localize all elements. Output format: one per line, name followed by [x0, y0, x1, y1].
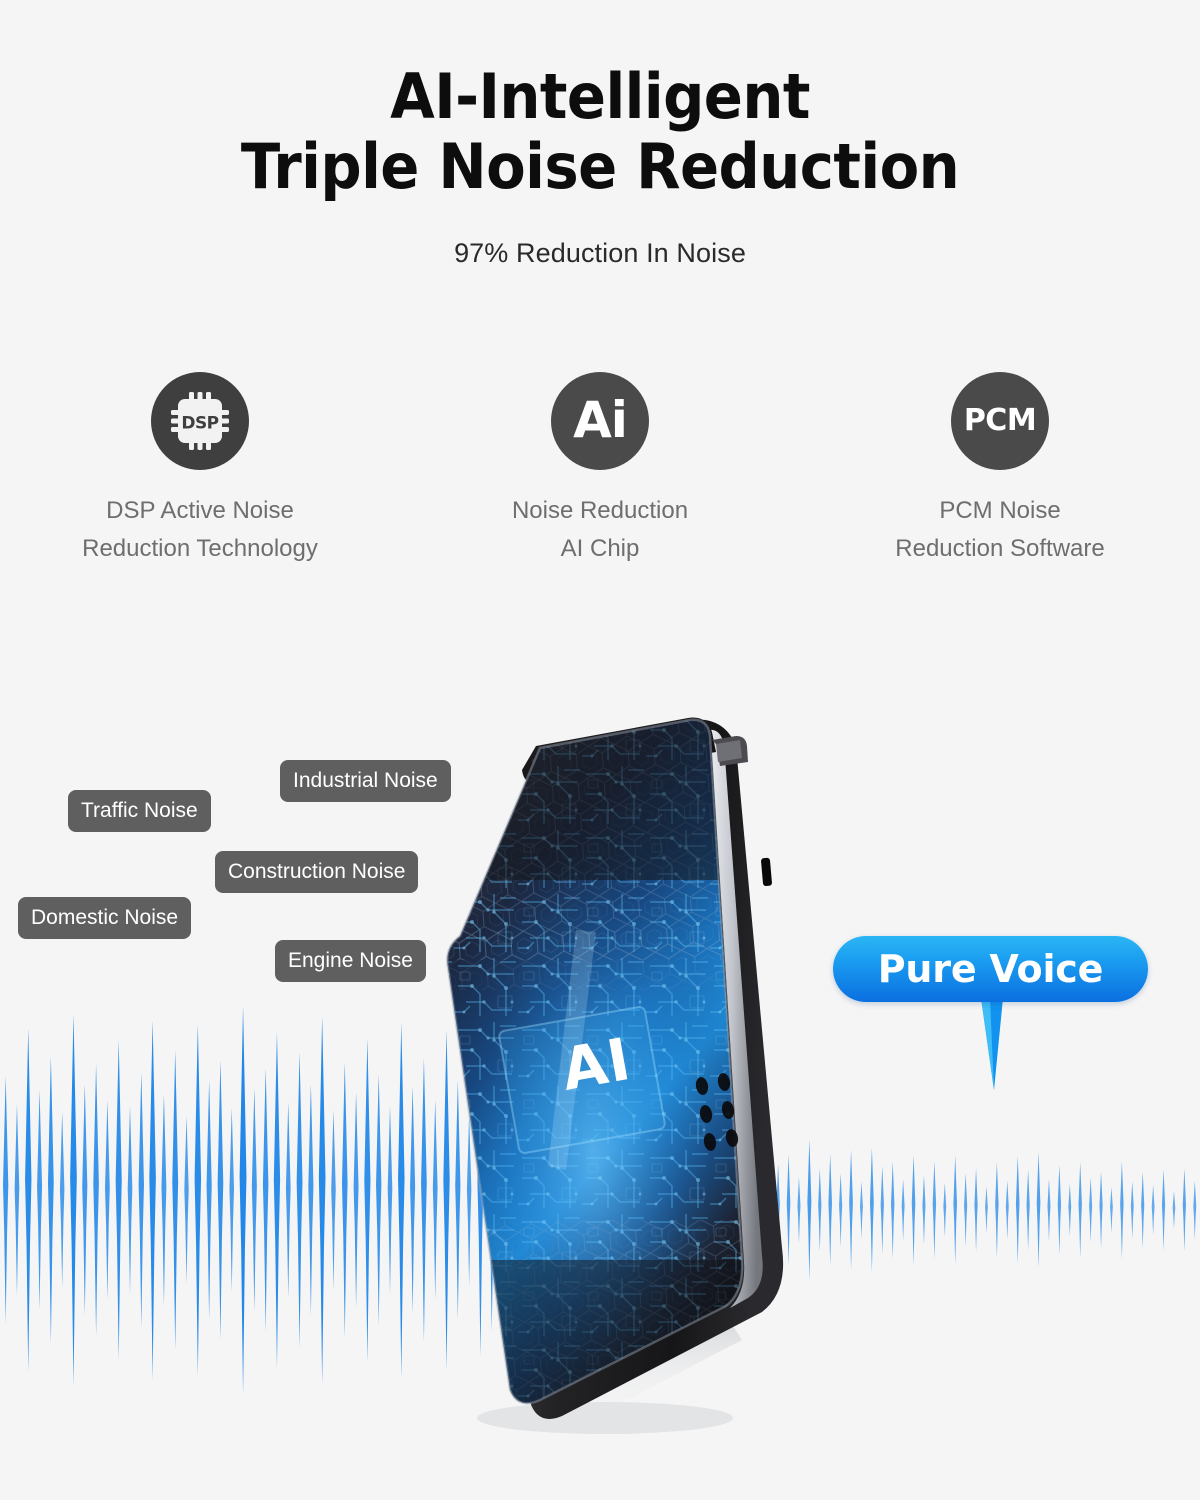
- noise-callout-2: Construction Noise: [215, 851, 418, 893]
- svg-text:DSP: DSP: [181, 414, 218, 434]
- ai-icon: Ai: [551, 372, 649, 470]
- pure-voice-label: Pure Voice: [878, 947, 1103, 991]
- page-title: AI-Intelligent Triple Noise Reduction: [42, 62, 1158, 202]
- feature-item-dsp: DSP DSP Active Noise Reduction Technolog…: [0, 372, 400, 568]
- feature-caption-dsp: DSP Active Noise Reduction Technology: [82, 492, 318, 568]
- noise-callout-label: Construction Noise: [228, 860, 405, 883]
- dsp-chip-icon: DSP: [151, 372, 249, 470]
- noise-callout-3: Domestic Noise: [18, 897, 191, 939]
- feature-item-ai: Ai Noise Reduction AI Chip: [400, 372, 800, 568]
- feature-caption-pcm: PCM Noise Reduction Software: [895, 492, 1104, 568]
- pcm-icon-label: PCM: [964, 406, 1036, 436]
- noise-callout-1: Industrial Noise: [280, 760, 451, 802]
- product-feature-page: AI-Intelligent Triple Noise Reduction 97…: [0, 0, 1200, 1500]
- noise-callout-label: Engine Noise: [288, 949, 413, 972]
- noise-callout-4: Engine Noise: [275, 940, 426, 982]
- noise-callout-label: Industrial Noise: [293, 769, 438, 792]
- feature-item-pcm: PCM PCM Noise Reduction Software: [800, 372, 1200, 568]
- noise-callout-label: Traffic Noise: [81, 799, 198, 822]
- pure-voice-pointer: [981, 998, 1003, 1090]
- ai-icon-label: Ai: [573, 395, 627, 445]
- feature-caption-ai: Noise Reduction AI Chip: [512, 492, 688, 568]
- page-subtitle: 97% Reduction In Noise: [0, 238, 1200, 269]
- voice-recorder-device: AI: [390, 700, 830, 1460]
- noise-callout-label: Domestic Noise: [31, 906, 178, 929]
- pure-voice-badge: Pure Voice: [833, 936, 1148, 1002]
- device-screen-label: AI: [557, 1025, 636, 1104]
- pcm-icon: PCM: [951, 372, 1049, 470]
- feature-row: DSP DSP Active Noise Reduction Technolog…: [0, 372, 1200, 568]
- page-title-line-2: Triple Noise Reduction: [42, 132, 1158, 202]
- page-title-line-1: AI-Intelligent: [390, 60, 810, 133]
- noise-callout-0: Traffic Noise: [68, 790, 211, 832]
